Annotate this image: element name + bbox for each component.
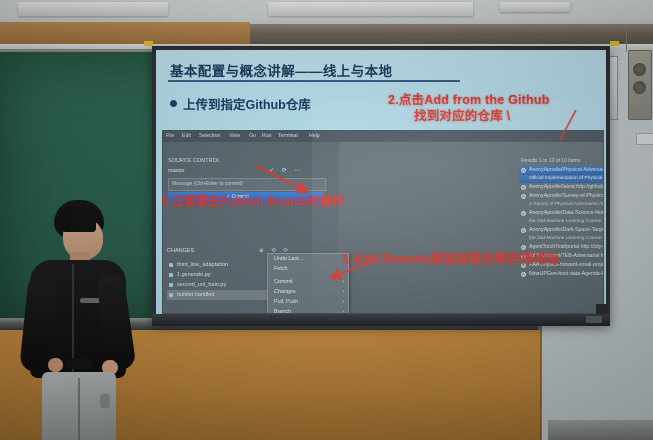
repo-icon: R [521, 168, 526, 173]
repository-row[interactable]: R AnonyApostle/Physical-Adversarial-Camo… [519, 166, 604, 175]
repository-name: AnonyApostle/latest http://github.com/An… [529, 184, 604, 190]
speaker-cone [633, 81, 646, 94]
repo-icon: R [521, 211, 526, 216]
ide-menubar[interactable]: File Edit Selection View Go Run Terminal… [163, 131, 603, 142]
annotation-step-2: 2.点击Add from the Github 找到对应的仓库 \ [388, 92, 550, 124]
tree-item-label: builder.handled [177, 292, 214, 298]
wall-wood-panel [140, 330, 281, 440]
projection-screen-bottom-bar [152, 314, 610, 326]
repository-row[interactable]: R NineUPGen-host-data-Agenda-Project htt… [519, 270, 604, 279]
tree-item-label: 1.generate.py [177, 272, 211, 278]
repository-row[interactable]: R AnonyApostle/Data-Science-Notes http:/… [519, 209, 604, 218]
file-icon [169, 273, 173, 277]
repository-name: NineUPGen-host-data-Agenda-Project http:… [529, 271, 604, 277]
held-object [66, 358, 92, 369]
trouser-pocket [100, 394, 110, 408]
repository-name: AnonyApostle/Physical-Adversarial-Camouf… [529, 167, 604, 173]
wall-wood-panel [280, 330, 421, 440]
changes-header: CHANGES [167, 248, 194, 254]
annotation-step-0: 0.注意要在Publish Branch时操作 [162, 192, 344, 209]
branch-label[interactable]: master [168, 168, 185, 174]
speaker-cable [626, 26, 627, 52]
menu-selection[interactable]: Selection [199, 133, 220, 139]
menu-help[interactable]: Help [309, 133, 320, 139]
screen-brand-logo [586, 316, 602, 323]
repo-icon: R [521, 228, 526, 233]
repo-icon: R [521, 194, 526, 199]
context-menu-label: Undo Last... [274, 256, 303, 262]
file-icon [169, 263, 173, 267]
repo-icon: R [521, 272, 526, 277]
presenter-hand-left [48, 358, 63, 372]
repository-result-count: Results 1 to 10 of 10 items [521, 158, 580, 164]
chevron-right-icon: › [342, 277, 344, 287]
ceiling-light [500, 2, 570, 12]
menu-file[interactable]: File [166, 133, 174, 139]
annotation-step-2-line1: 2.点击Add from the Github [388, 93, 550, 107]
annotation-step-1: 1.Add Remote添加远程仓库存档地址 [342, 248, 559, 267]
context-menu-item-commit[interactable]: Commit › [268, 277, 348, 287]
ide-screenshot: File Edit Selection View Go Run Terminal… [162, 130, 604, 314]
context-menu-item-undo[interactable]: Undo Last... [268, 254, 348, 264]
repository-row[interactable]: R AnonyApostle/Dark-Space-Target-Detecti… [519, 226, 604, 235]
commit-message-placeholder: Message (Ctrl+Enter to commit) [172, 181, 243, 187]
ceiling-light [268, 2, 473, 16]
git-context-menu[interactable]: Undo Last... Fetch Commit › Changes › Pu… [267, 253, 349, 314]
bullet-dot-icon [170, 100, 177, 107]
tree-item-label: third_line_adaptation [177, 262, 228, 268]
context-menu-item-changes[interactable]: Changes › [268, 287, 348, 297]
menu-terminal[interactable]: Terminal [278, 133, 298, 139]
repository-row[interactable]: R AnonyApostle/latest http://github.com/… [519, 183, 604, 192]
projection-screen: 基本配置与概念讲解——线上与本地 上传到指定Github仓库 2.点击Add f… [156, 50, 606, 318]
slide-bullet-label: 上传到指定Github仓库 [183, 94, 311, 113]
trouser-seam [78, 378, 80, 440]
classroom-photo: 基本配置与概念讲解——线上与本地 上传到指定Github仓库 2.点击Add f… [0, 0, 653, 440]
annotation-step-2-line2: 找到对应的仓库 \ [414, 108, 550, 124]
speaker-cone [633, 63, 646, 76]
title-underline [168, 80, 460, 82]
presenter-hair-front [56, 206, 96, 232]
menu-edit[interactable]: Edit [182, 133, 191, 139]
chevron-right-icon: › [342, 287, 344, 297]
source-control-header: SOURCE CONTROL [168, 158, 220, 164]
chevron-right-icon: › [342, 297, 344, 307]
context-menu-label: Commit [274, 279, 293, 285]
wall-vent [636, 133, 653, 145]
repository-description: Official Implementation of Physical Adve… [519, 175, 604, 183]
repository-name: AnonyApostle/Data-Science-Notes http://d… [529, 210, 604, 216]
repository-description: the 2nd Machine Learning Course Challeng… [519, 235, 604, 243]
context-menu-label: Fetch [274, 266, 287, 272]
menu-view[interactable]: View [229, 133, 240, 139]
context-menu-item-fetch[interactable]: Fetch [268, 264, 348, 274]
file-icon [169, 283, 173, 287]
ceiling-light [18, 2, 168, 16]
wall-wood-panel [420, 330, 541, 440]
tree-item-label: second_uni_train.py [177, 282, 226, 288]
repository-row[interactable]: R AnonyApostle/Survey-of-Physical-advers… [519, 192, 604, 201]
slide-bullet: 上传到指定Github仓库 [170, 94, 311, 113]
side-desk [548, 420, 653, 440]
wall-speaker [628, 50, 652, 120]
repository-name: AnonyApostle/Survey-of-Physical-adversar… [529, 193, 604, 199]
repository-description: A Survey of Physical Adversarial Attack … [519, 201, 604, 209]
file-icon [169, 293, 173, 297]
context-menu-item-pullpush[interactable]: Pull, Push › [268, 297, 348, 307]
repository-panel: Results 1 to 10 of 10 items R AnonyApost… [339, 142, 603, 313]
screen-pull-handle[interactable] [596, 304, 608, 314]
slide-title: 基本配置与概念讲解——线上与本地 [170, 60, 392, 80]
wall-tag [610, 41, 619, 46]
context-menu-label: Changes [274, 289, 296, 295]
repository-description: the 2nd Machine Learning Course Challeng… [519, 218, 604, 226]
context-menu-label: Pull, Push [274, 299, 298, 305]
presenter [18, 200, 138, 440]
context-menu-item-branch[interactable]: Branch › [268, 307, 348, 314]
chevron-right-icon: › [342, 307, 344, 314]
repo-icon: R [521, 185, 526, 190]
menu-run[interactable]: Run [262, 133, 272, 139]
menu-go[interactable]: Go [249, 133, 256, 139]
git-toolbar-icons[interactable]: ✓ ⟳ ⋯ [269, 167, 303, 174]
repository-name: AnonyApostle/Dark-Space-Target-Detection… [529, 227, 604, 233]
commit-message-input[interactable]: Message (Ctrl+Enter to commit) [168, 178, 326, 191]
